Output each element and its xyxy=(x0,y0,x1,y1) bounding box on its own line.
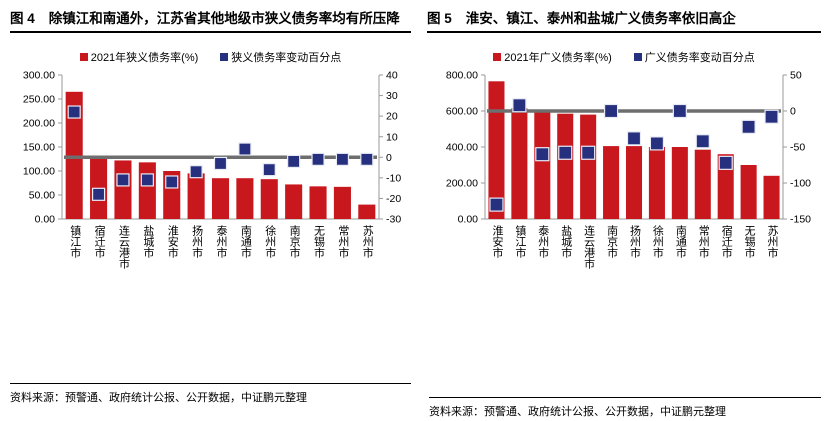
y-axis-tick-left: 300.00 xyxy=(23,71,55,82)
figure-panel-left: 图 4除镇江和南通外，江苏省其他地级市狭义债务率均有所压降 2021年狭义债务率… xyxy=(0,0,421,421)
marker-常州市 xyxy=(336,153,348,165)
marker-南京市 xyxy=(288,155,300,167)
x-axis-label-苏州市: 苏州市 xyxy=(361,225,373,258)
y-axis-tick-left: 0.00 xyxy=(35,214,56,223)
y-axis-tick-right: 20 xyxy=(386,111,398,123)
chart-right: 0.00200.00400.00600.00800.00-150-100-500… xyxy=(427,71,821,289)
y-axis-tick-right: 10 xyxy=(386,131,398,143)
y-axis-tick-left: 150.00 xyxy=(23,142,55,154)
marker-连云港市 xyxy=(582,146,595,159)
figure-4-title: 图 4除镇江和南通外，江苏省其他地级市狭义债务率均有所压降 xyxy=(10,8,411,30)
title-divider-right xyxy=(427,31,821,33)
bar-扬州市 xyxy=(626,146,642,219)
y-axis-tick-left: 0.00 xyxy=(458,214,479,223)
marker-常州市 xyxy=(696,135,709,148)
marker-泰州市 xyxy=(536,148,549,161)
marker-盐城市 xyxy=(141,174,153,186)
y-axis-tick-right: -20 xyxy=(386,193,401,205)
marker-南通市 xyxy=(673,105,686,118)
bar-苏州市 xyxy=(764,176,780,219)
marker-淮安市 xyxy=(166,176,178,188)
x-axis-label-苏州市: 苏州市 xyxy=(766,225,778,258)
x-axis-label-扬州市: 扬州市 xyxy=(628,225,640,258)
bar-扬州市 xyxy=(188,173,205,219)
legend-label-broad-debt-change: 广义债务率变动百分点 xyxy=(645,49,755,65)
figure-panel-right: 图 5淮安、镇江、泰州和盐城广义债务率依旧高企 2021年广义债务率(%) 广义… xyxy=(421,0,829,421)
chart-right-category-labels: 淮安市镇江市泰州市盐城市连云港市南京市扬州市徐州市南通市常州市宿迁市无锡市苏州市 xyxy=(427,223,821,289)
legend-left: 2021年狭义债务率(%) 狭义债务率变动百分点 xyxy=(10,49,411,65)
x-axis-label-南通市: 南通市 xyxy=(674,225,686,258)
figure-4-label: 图 4 xyxy=(10,11,35,26)
bar-泰州市 xyxy=(212,178,229,219)
bar-无锡市 xyxy=(741,165,757,219)
y-axis-tick-right: 0 xyxy=(386,152,392,164)
marker-泰州市 xyxy=(215,157,227,169)
y-axis-tick-right: 0 xyxy=(790,106,796,118)
marker-镇江市 xyxy=(68,106,80,118)
title-divider-left xyxy=(10,31,411,33)
x-axis-label-扬州市: 扬州市 xyxy=(190,225,202,258)
chart-right-plot: 0.00200.00400.00600.00800.00-150-100-500… xyxy=(427,71,819,223)
figure-4-title-text: 除镇江和南通外，江苏省其他地级市狭义债务率均有所压降 xyxy=(49,11,400,26)
y-axis-tick-right: 50 xyxy=(790,71,802,82)
bar-盐城市 xyxy=(139,162,156,219)
bar-南通市 xyxy=(672,147,688,219)
y-axis-tick-left: 600.00 xyxy=(446,106,478,118)
legend-right: 2021年广义债务率(%) 广义债务率变动百分点 xyxy=(427,49,821,65)
y-axis-tick-right: -100 xyxy=(790,178,811,190)
legend-swatch-blue-icon xyxy=(634,53,642,61)
bar-连云港市 xyxy=(114,160,131,219)
bar-无锡市 xyxy=(310,186,327,219)
y-axis-tick-left: 200.00 xyxy=(23,118,55,130)
x-axis-label-南京市: 南京市 xyxy=(288,225,300,258)
bar-南京市 xyxy=(285,184,302,219)
legend-label-narrow-debt-ratio: 2021年狭义债务率(%) xyxy=(91,49,199,65)
marker-宿迁市 xyxy=(719,156,732,169)
marker-连云港市 xyxy=(117,174,129,186)
x-axis-label-徐州市: 徐州市 xyxy=(263,225,275,258)
figures-page: 图 4除镇江和南通外，江苏省其他地级市狭义债务率均有所压降 2021年狭义债务率… xyxy=(0,0,829,421)
x-axis-label-无锡市: 无锡市 xyxy=(312,225,324,258)
x-axis-label-宿迁市: 宿迁市 xyxy=(720,225,732,258)
legend-swatch-red-icon xyxy=(80,53,88,61)
y-axis-tick-left: 400.00 xyxy=(446,142,478,154)
marker-淮安市 xyxy=(490,198,503,211)
x-axis-label-淮安市: 淮安市 xyxy=(166,225,178,258)
bar-南京市 xyxy=(603,146,619,219)
source-note-left-wrap: 资料来源：预警通、政府统计公报、公开数据，中证鹏元整理 xyxy=(10,383,411,407)
legend-swatch-red-icon xyxy=(493,53,501,61)
x-axis-label-无锡市: 无锡市 xyxy=(743,225,755,258)
y-axis-tick-left: 50.00 xyxy=(29,190,55,202)
y-axis-tick-left: 250.00 xyxy=(23,94,55,106)
figure-5-label: 图 5 xyxy=(427,11,452,26)
figure-5-title-text: 淮安、镇江、泰州和盐城广义债务率依旧高企 xyxy=(466,11,736,26)
x-axis-label-宿迁市: 宿迁市 xyxy=(93,225,105,258)
bar-徐州市 xyxy=(649,147,665,219)
bar-徐州市 xyxy=(261,179,278,219)
legend-item-narrow-debt-ratio: 2021年狭义债务率(%) xyxy=(80,49,199,65)
x-axis-label-泰州市: 泰州市 xyxy=(215,225,227,258)
marker-南京市 xyxy=(605,105,618,118)
x-axis-label-淮安市: 淮安市 xyxy=(490,225,502,258)
legend-item-broad-debt-ratio: 2021年广义债务率(%) xyxy=(493,49,612,65)
x-axis-label-连云港市: 连云港市 xyxy=(117,225,129,269)
y-axis-tick-left: 800.00 xyxy=(446,71,478,82)
bar-南通市 xyxy=(236,178,253,219)
source-note-left: 资料来源：预警通、政府统计公报、公开数据，中证鹏元整理 xyxy=(10,384,411,407)
marker-南通市 xyxy=(239,143,251,155)
y-axis-tick-right: 30 xyxy=(386,90,398,102)
marker-徐州市 xyxy=(650,137,663,150)
marker-扬州市 xyxy=(628,132,641,145)
marker-盐城市 xyxy=(559,146,572,159)
x-axis-label-徐州市: 徐州市 xyxy=(651,225,663,258)
bar-盐城市 xyxy=(557,114,573,219)
marker-苏州市 xyxy=(765,110,778,123)
x-axis-label-常州市: 常州市 xyxy=(336,225,348,258)
y-axis-tick-left: 200.00 xyxy=(446,178,478,190)
legend-item-narrow-debt-change: 狭义债务率变动百分点 xyxy=(220,49,341,65)
marker-徐州市 xyxy=(263,164,275,176)
source-note-right-wrap: 资料来源：预警通、政府统计公报、公开数据，中证鹏元整理 xyxy=(429,397,821,421)
y-axis-tick-right: 40 xyxy=(386,71,398,82)
figure-5-title: 图 5淮安、镇江、泰州和盐城广义债务率依旧高企 xyxy=(427,8,821,30)
marker-苏州市 xyxy=(361,153,373,165)
legend-swatch-blue-icon xyxy=(220,53,228,61)
chart-left-plot: 0.0050.00100.00150.00200.00250.00300.00-… xyxy=(10,71,411,223)
bar-连云港市 xyxy=(580,115,596,219)
source-note-right: 资料来源：预警通、政府统计公报、公开数据，中证鹏元整理 xyxy=(429,398,821,421)
x-axis-label-盐城市: 盐城市 xyxy=(141,225,153,258)
x-axis-label-连云港市: 连云港市 xyxy=(582,225,594,269)
y-axis-tick-left: 100.00 xyxy=(23,166,55,178)
x-axis-label-镇江市: 镇江市 xyxy=(513,225,525,258)
bar-泰州市 xyxy=(534,112,550,219)
bar-苏州市 xyxy=(358,205,375,219)
y-axis-tick-right: -50 xyxy=(790,142,805,154)
marker-镇江市 xyxy=(513,99,526,112)
x-axis-label-镇江市: 镇江市 xyxy=(68,225,80,258)
x-axis-label-常州市: 常州市 xyxy=(697,225,709,258)
y-axis-tick-right: -150 xyxy=(790,214,811,223)
bar-常州市 xyxy=(695,150,711,219)
bar-常州市 xyxy=(334,187,351,219)
marker-扬州市 xyxy=(190,166,202,178)
x-axis-label-泰州市: 泰州市 xyxy=(536,225,548,258)
x-axis-label-南京市: 南京市 xyxy=(605,225,617,258)
y-axis-tick-right: -30 xyxy=(386,214,401,223)
x-axis-label-南通市: 南通市 xyxy=(239,225,251,258)
legend-label-narrow-debt-change: 狭义债务率变动百分点 xyxy=(231,49,341,65)
marker-无锡市 xyxy=(742,120,755,133)
legend-item-broad-debt-change: 广义债务率变动百分点 xyxy=(634,49,755,65)
bar-镇江市 xyxy=(511,108,527,219)
marker-无锡市 xyxy=(312,153,324,165)
chart-left: 0.0050.00100.00150.00200.00250.00300.00-… xyxy=(10,71,411,289)
x-axis-label-盐城市: 盐城市 xyxy=(559,225,571,258)
y-axis-tick-right: -10 xyxy=(386,172,401,184)
chart-left-category-labels: 镇江市宿迁市连云港市盐城市淮安市扬州市泰州市南通市徐州市南京市无锡市常州市苏州市 xyxy=(10,223,411,289)
legend-label-broad-debt-ratio: 2021年广义债务率(%) xyxy=(504,49,612,65)
marker-宿迁市 xyxy=(93,188,105,200)
